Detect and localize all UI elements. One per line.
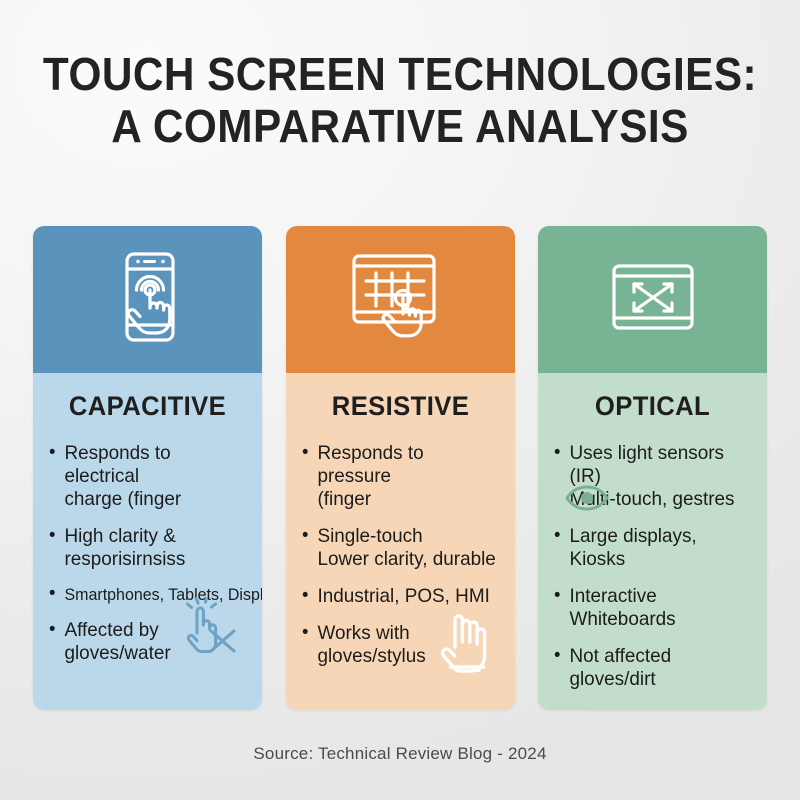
list-item: Responds to electrical charge (finger [47,442,244,511]
source-caption: Source: Technical Review Blog - 2024 [0,744,800,764]
card-resistive-bullets: Responds to pressure (finger Single-touc… [286,442,515,668]
card-optical-bullets: Uses light sensors (IR) Multi-touch, ges… [538,442,767,691]
list-item: Smartphones, Tablets, Displays [47,585,244,605]
card-optical[interactable]: OPTICAL Uses light sensors (IR) Multi-to… [538,226,767,710]
card-resistive-title: RESISTIVE [291,391,509,422]
card-capacitive-icon-band [33,226,262,373]
title-line-2: A COMPARATIVE ANALYSIS [32,100,768,152]
list-item: High clarity & resporisirnsiss [47,525,244,571]
card-optical-body: OPTICAL Uses light sensors (IR) Multi-to… [538,373,767,710]
list-item: Affected by gloves/water [47,619,244,665]
card-resistive-icon-band [286,226,515,373]
card-optical-icon-band [538,226,767,373]
list-item: Large displays, Kiosks [552,525,749,571]
card-capacitive-bullets: Responds to electrical charge (finger Hi… [33,442,262,665]
list-item: Uses light sensors (IR) Multi-touch, ges… [552,442,749,511]
card-resistive-body: RESISTIVE Responds to pressure (finger S… [286,373,515,710]
card-optical-title: OPTICAL [544,391,762,422]
list-item: Interactive Whiteboards [552,585,749,631]
infographic-canvas: TOUCH SCREEN TECHNOLOGIES: A COMPARATIVE… [0,0,800,800]
list-item: Not affected gloves/dirt [552,645,749,691]
card-capacitive[interactable]: CAPACITIVE Responds to electrical charge… [33,226,262,710]
screen-crossing-arrows-icon [610,262,696,337]
card-capacitive-title: CAPACITIVE [39,391,257,422]
grid-screen-touch-icon [348,251,452,348]
comparison-cards: CAPACITIVE Responds to electrical charge… [33,226,767,710]
card-resistive[interactable]: RESISTIVE Responds to pressure (finger S… [286,226,515,710]
smartphone-touch-icon [105,249,191,350]
list-item: Single-touch Lower clarity, durable [300,525,497,571]
page-title: TOUCH SCREEN TECHNOLOGIES: A COMPARATIVE… [0,48,800,152]
list-item: Responds to pressure (finger [300,442,497,511]
card-capacitive-body: CAPACITIVE Responds to electrical charge… [33,373,262,710]
list-item: Works with gloves/stylus [300,622,497,668]
list-item: Industrial, POS, HMI [300,585,497,608]
title-line-1: TOUCH SCREEN TECHNOLOGIES: [32,48,768,100]
